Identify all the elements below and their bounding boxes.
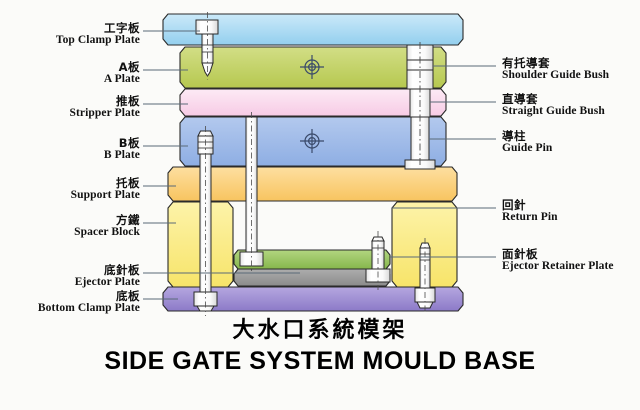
diagram-title: 大水口系統模架 SIDE GATE SYSTEM MOULD BASE	[0, 312, 640, 376]
label-support-plate: 托板 Support Plate	[0, 177, 140, 201]
label-cn: 回針	[502, 199, 640, 211]
label-en: Shoulder Guide Bush	[502, 69, 640, 81]
cap-screw-head	[196, 20, 218, 34]
label-en: Stripper Plate	[0, 107, 140, 119]
label-cn: 推板	[0, 95, 140, 107]
label-b-plate: B板 B Plate	[0, 137, 140, 161]
label-ejector-retainer-plate: 面針板 Ejector Retainer Plate	[502, 248, 640, 272]
label-en: Spacer Block	[0, 226, 140, 238]
label-en: Top Clamp Plate	[0, 34, 140, 46]
label-cn: A板	[0, 61, 140, 73]
label-top-clamp-plate: 工字板 Top Clamp Plate	[0, 22, 140, 46]
label-cn: 底針板	[0, 264, 140, 276]
label-cn: 工字板	[0, 22, 140, 34]
title-cn: 大水口系統模架	[0, 312, 640, 344]
label-en: Ejector Plate	[0, 276, 140, 288]
label-return-pin: 回針 Return Pin	[502, 199, 640, 223]
part-stripper-plate	[180, 89, 446, 116]
label-stripper-plate: 推板 Stripper Plate	[0, 95, 140, 119]
label-cn: 直導套	[502, 93, 640, 105]
label-en: Straight Guide Bush	[502, 105, 640, 117]
label-cn: 有托導套	[502, 57, 640, 69]
label-en: A Plate	[0, 73, 140, 85]
label-spacer-block: 方鐵 Spacer Block	[0, 214, 140, 238]
label-en: Guide Pin	[502, 142, 640, 154]
label-cn: 托板	[0, 177, 140, 189]
label-cn: 面針板	[502, 248, 640, 260]
label-cn: 導柱	[502, 130, 640, 142]
label-en: B Plate	[0, 149, 140, 161]
label-en: Return Pin	[502, 211, 640, 223]
label-shoulder-guide-bush: 有托導套 Shoulder Guide Bush	[502, 57, 640, 81]
label-en: Support Plate	[0, 189, 140, 201]
label-bottom-clamp-plate: 底板 Bottom Clamp Plate	[0, 290, 140, 314]
label-a-plate: A板 A Plate	[0, 61, 140, 85]
label-cn: B板	[0, 137, 140, 149]
title-en: SIDE GATE SYSTEM MOULD BASE	[0, 347, 640, 376]
label-en: Ejector Retainer Plate	[502, 260, 640, 272]
label-ejector-plate: 底針板 Ejector Plate	[0, 264, 140, 288]
label-guide-pin: 導柱 Guide Pin	[502, 130, 640, 154]
label-straight-guide-bush: 直導套 Straight Guide Bush	[502, 93, 640, 117]
label-cn: 方鐵	[0, 214, 140, 226]
label-cn: 底板	[0, 290, 140, 302]
